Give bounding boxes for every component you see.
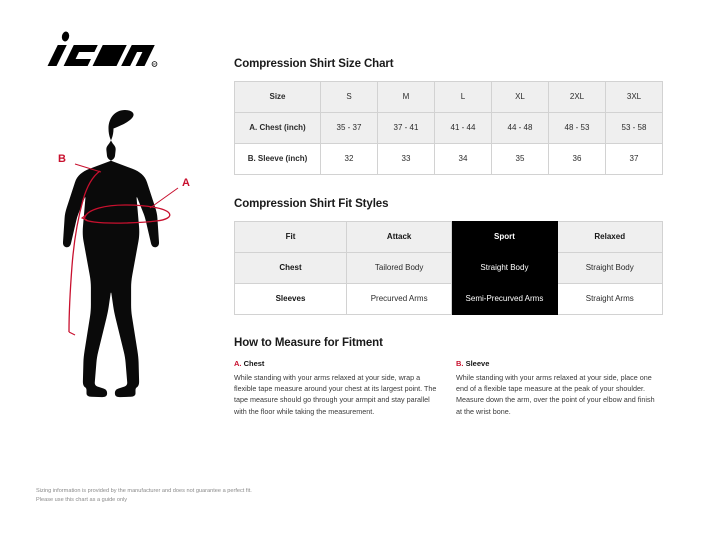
- disclaimer-line-1: Sizing information is provided by the ma…: [36, 487, 366, 496]
- measure-key-b: B.: [456, 359, 464, 368]
- size-col-header-2xl: 2XL: [549, 81, 606, 112]
- size-col-header-l: L: [435, 81, 492, 112]
- content-column: Compression Shirt Size Chart Size S M L …: [234, 58, 664, 417]
- size-col-header-label: Size: [235, 81, 321, 112]
- size-col-header-m: M: [378, 81, 435, 112]
- cell-chest-xl: 44 - 48: [492, 112, 549, 143]
- cell-sleeve-m: 33: [378, 143, 435, 174]
- table-row: A. Chest (inch) 35 - 37 37 - 41 41 - 44 …: [235, 112, 663, 143]
- fit-row-label-sleeves: Sleeves: [235, 283, 347, 314]
- measure-label-chest: Chest: [244, 359, 265, 368]
- cell-chest-l: 41 - 44: [435, 112, 492, 143]
- measure-title-sleeve: B. Sleeve: [456, 359, 662, 369]
- cell-sleeve-3xl: 37: [606, 143, 663, 174]
- cell-sleeve-s: 32: [321, 143, 378, 174]
- measure-body-sleeve: While standing with your arms relaxed at…: [456, 372, 662, 417]
- cell-chest-3xl: 53 - 58: [606, 112, 663, 143]
- callout-label-b: B: [58, 153, 66, 165]
- cell-sleeve-xl: 35: [492, 143, 549, 174]
- row-label-sleeve: B. Sleeve (inch): [235, 143, 321, 174]
- silhouette-svg: B A: [28, 88, 224, 448]
- how-to-measure-heading: How to Measure for Fitment: [234, 337, 664, 351]
- how-to-measure-section: How to Measure for Fitment A. Chest Whil…: [234, 337, 664, 417]
- measure-body-chest: While standing with your arms relaxed at…: [234, 372, 440, 417]
- cell-sleeve-l: 34: [435, 143, 492, 174]
- cell-sleeves-sport: Semi-Precurved Arms: [452, 283, 557, 314]
- table-row: Sleeves Precurved Arms Semi-Precurved Ar…: [235, 283, 663, 314]
- measure-key-a: A.: [234, 359, 242, 368]
- table-row-header: Fit Attack Sport Relaxed: [235, 221, 663, 252]
- fit-styles-table: Fit Attack Sport Relaxed Chest Tailored …: [234, 221, 663, 315]
- cell-chest-2xl: 48 - 53: [549, 112, 606, 143]
- size-col-header-3xl: 3XL: [606, 81, 663, 112]
- measure-title-chest: A. Chest: [234, 359, 440, 369]
- cell-chest-relaxed: Straight Body: [557, 252, 662, 283]
- measure-item-chest: A. Chest While standing with your arms r…: [234, 359, 440, 416]
- measure-item-sleeve: B. Sleeve While standing with your arms …: [456, 359, 662, 416]
- body-measurement-diagram: B A: [28, 88, 224, 448]
- footer-disclaimer: Sizing information is provided by the ma…: [36, 487, 366, 505]
- table-row: Chest Tailored Body Straight Body Straig…: [235, 252, 663, 283]
- cell-chest-m: 37 - 41: [378, 112, 435, 143]
- size-col-header-xl: XL: [492, 81, 549, 112]
- fit-styles-heading: Compression Shirt Fit Styles: [234, 198, 664, 212]
- fit-col-header-sport: Sport: [452, 221, 557, 252]
- table-row: B. Sleeve (inch) 32 33 34 35 36 37: [235, 143, 663, 174]
- fit-col-header-attack: Attack: [347, 221, 452, 252]
- fit-col-header-fit: Fit: [235, 221, 347, 252]
- size-col-header-s: S: [321, 81, 378, 112]
- cell-chest-attack: Tailored Body: [347, 252, 452, 283]
- cell-chest-s: 35 - 37: [321, 112, 378, 143]
- cell-sleeves-attack: Precurved Arms: [347, 283, 452, 314]
- size-chart-heading: Compression Shirt Size Chart: [234, 58, 664, 72]
- cell-sleeve-2xl: 36: [549, 143, 606, 174]
- row-label-chest: A. Chest (inch): [235, 112, 321, 143]
- size-chart-table: Size S M L XL 2XL 3XL A. Chest (inch) 35…: [234, 81, 663, 175]
- fit-row-label-chest: Chest: [235, 252, 347, 283]
- cell-chest-sport: Straight Body: [452, 252, 557, 283]
- brand-logo: R: [30, 28, 160, 72]
- measure-label-sleeve: Sleeve: [466, 359, 490, 368]
- table-row-header: Size S M L XL 2XL 3XL: [235, 81, 663, 112]
- male-torso-silhouette: [63, 110, 159, 397]
- icon-wordmark-logo: R: [30, 28, 160, 72]
- callout-label-a: A: [182, 177, 190, 189]
- cell-sleeves-relaxed: Straight Arms: [557, 283, 662, 314]
- fit-col-header-relaxed: Relaxed: [557, 221, 662, 252]
- disclaimer-line-2: Please use this chart as a guide only: [36, 496, 366, 505]
